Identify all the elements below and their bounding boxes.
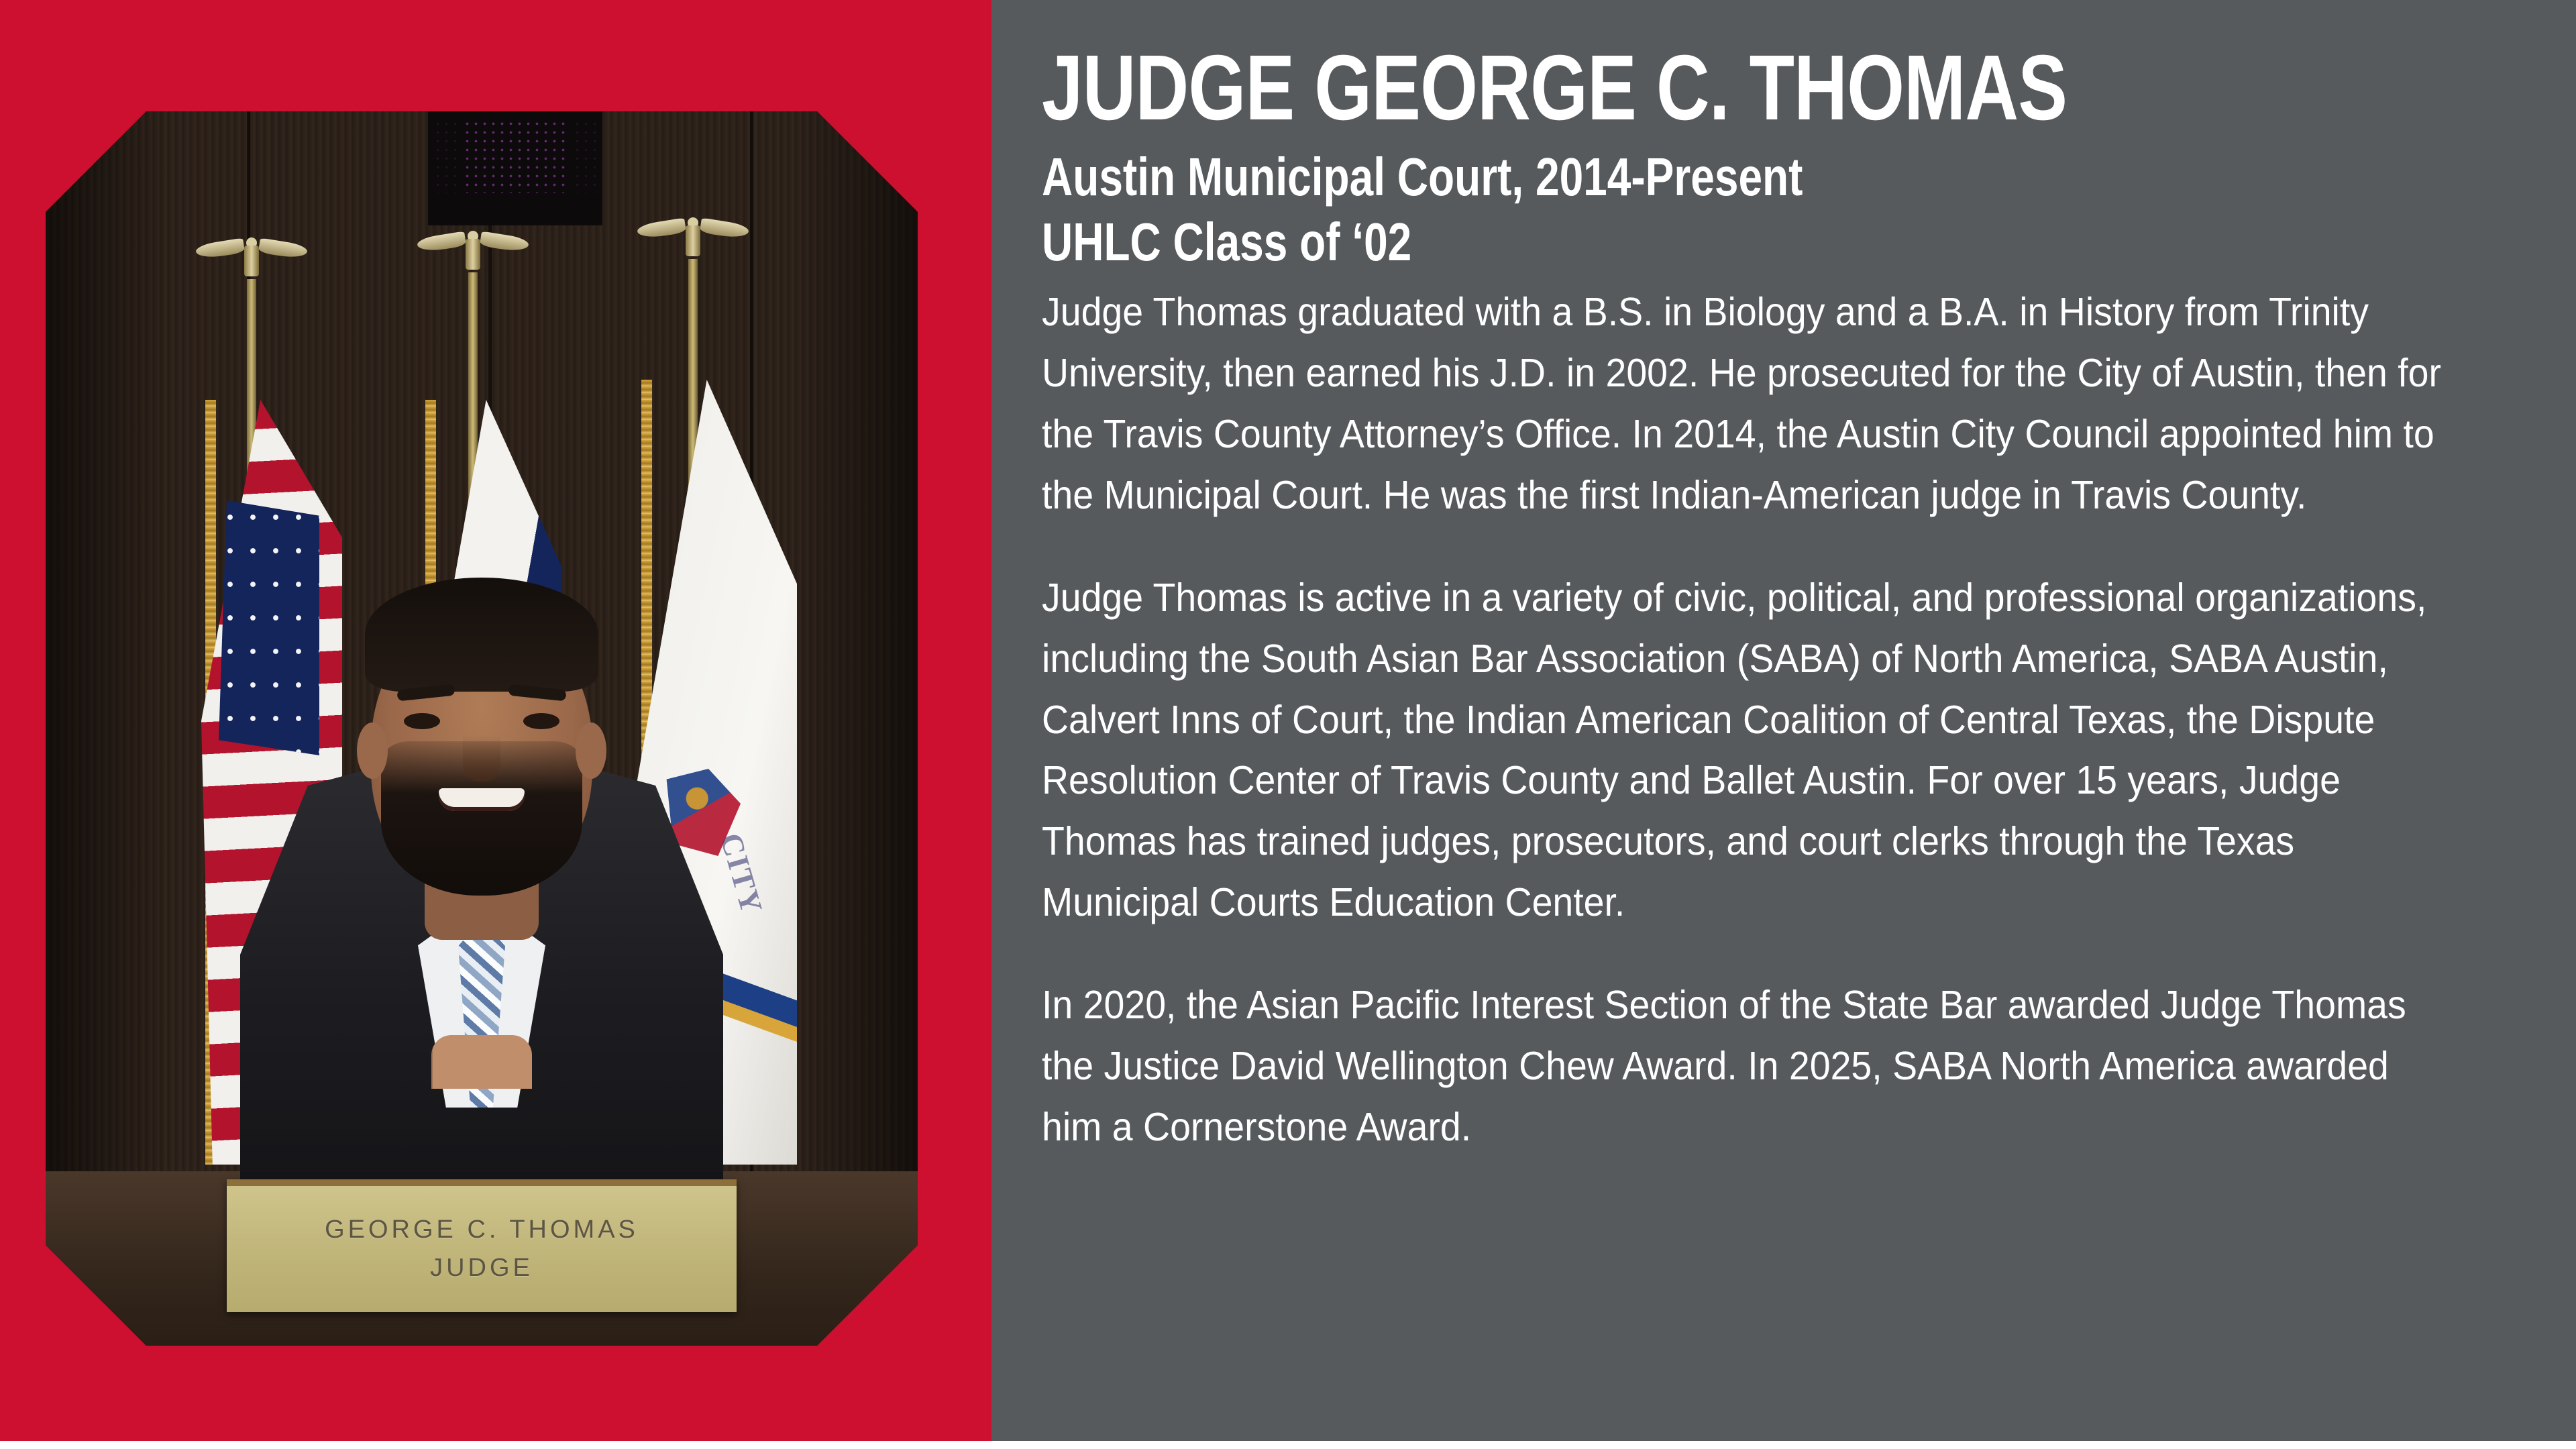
judge-portrait-photo: CITY GEORGE C. THOMAS JUDGE [46,111,918,1346]
page-title: JUDGE GEORGE C. THOMAS [1042,42,2225,134]
hair [365,578,598,692]
judge-figure [240,497,723,1208]
speaker-grid-right [573,119,600,193]
ceiling-speaker-panel [428,111,602,225]
eye-right [523,713,559,729]
bottom-white-strip [0,1441,2576,1449]
court-and-tenure-subtitle: Austin Municipal Court, 2014-Present [1042,149,2225,205]
desk-nameplate: GEORGE C. THOMAS JUDGE [227,1179,737,1312]
speaker-grid-left [433,119,463,193]
ear-right [576,722,606,779]
slide-root: CITY GEORGE C. THOMAS JUDGE [0,0,2576,1449]
biography-text: Judge Thomas graduated with a B.S. in Bi… [1042,282,2455,1157]
class-year-subtitle: UHLC Class of ‘02 [1042,214,2225,270]
eye-left [404,713,440,729]
biography-paragraph: Judge Thomas graduated with a B.S. in Bi… [1042,282,2455,525]
clasped-hands [431,1035,532,1089]
biography-paragraph: In 2020, the Asian Pacific Interest Sect… [1042,975,2455,1158]
eagle-finial-icon [636,216,750,263]
eagle-finial-icon [416,229,530,276]
nose [463,735,500,782]
ear-left [357,722,388,779]
speaker-grid-center [463,119,570,193]
bio-content: JUDGE GEORGE C. THOMAS Austin Municipal … [1042,42,2521,1158]
nameplate-role: JUDGE [430,1249,533,1287]
nameplate-name: GEORGE C. THOMAS [325,1211,639,1249]
bio-panel: JUDGE GEORGE C. THOMAS Austin Municipal … [991,0,2576,1441]
eagle-finial-icon [195,236,309,283]
biography-paragraph: Judge Thomas is active in a variety of c… [1042,568,2455,933]
smile [439,788,525,811]
